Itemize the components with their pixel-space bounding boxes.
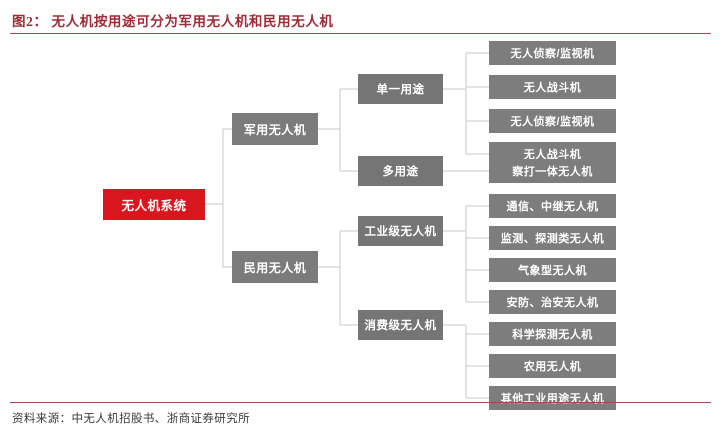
leaf-security-policing-uav[interactable]: 安防、治安无人机 — [489, 290, 616, 314]
leaf-monitoring-detection-uav[interactable]: 监测、探测类无人机 — [489, 226, 616, 250]
page-title: 图2： 无人机按用途可分为军用无人机和民用无人机 — [12, 10, 702, 30]
node-root-uav-system[interactable]: 无人机系统 — [103, 189, 205, 220]
leaf-meteorological-uav[interactable]: 气象型无人机 — [489, 258, 616, 282]
footer-divider — [10, 402, 711, 403]
leaf-recon-surveillance-uav-2[interactable]: 无人侦察/监视机 — [489, 109, 616, 133]
leaf-recon-surveillance-uav-1[interactable]: 无人侦察/监视机 — [489, 41, 616, 65]
figure-panel: 图2： 无人机按用途可分为军用无人机和民用无人机 — [0, 0, 721, 435]
node-industrial-grade-uav[interactable]: 工业级无人机 — [358, 216, 443, 246]
leaf-recon-strike-uav[interactable]: 察打一体无人机 — [489, 159, 616, 183]
node-single-purpose[interactable]: 单一用途 — [358, 74, 443, 104]
title-divider — [10, 33, 711, 34]
leaf-other-industrial-use-uav[interactable]: 其他工业用途无人机 — [489, 386, 616, 410]
leaf-communication-relay-uav[interactable]: 通信、中继无人机 — [489, 194, 616, 218]
leaf-scientific-exploration-uav[interactable]: 科学探测无人机 — [489, 322, 616, 346]
org-chart-diagram: 无人机系统 军用无人机 民用无人机 单一用途 多用途 工业级无人机 消费级无人机… — [0, 36, 721, 400]
node-consumer-grade-uav[interactable]: 消费级无人机 — [358, 310, 443, 340]
leaf-combat-uav-1[interactable]: 无人战斗机 — [489, 75, 616, 99]
leaf-agricultural-uav[interactable]: 农用无人机 — [489, 354, 616, 378]
node-civil-uav[interactable]: 民用无人机 — [232, 251, 318, 283]
node-military-uav[interactable]: 军用无人机 — [232, 113, 318, 145]
node-multi-purpose[interactable]: 多用途 — [358, 156, 443, 186]
source-note: 资料来源：中无人机招股书、浙商证券研究所 — [12, 410, 250, 426]
